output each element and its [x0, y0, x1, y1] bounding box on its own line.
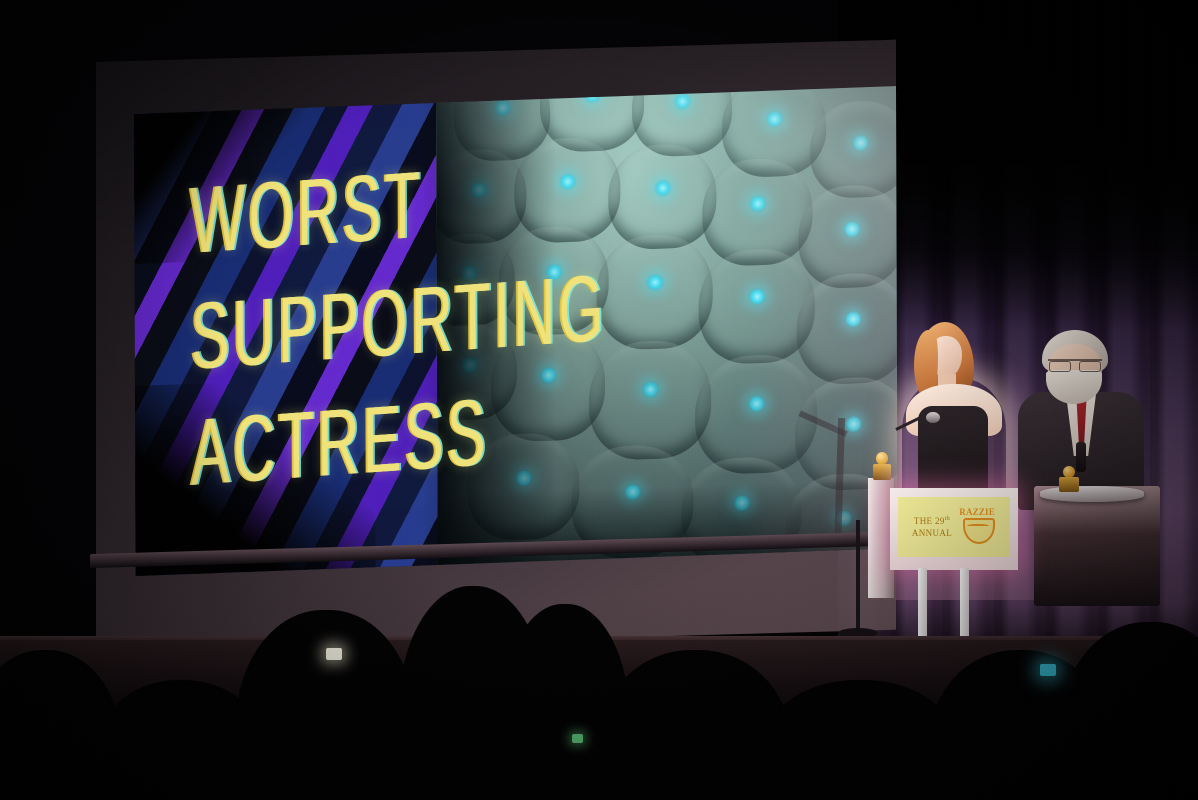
audience-phone-screen-light	[326, 648, 342, 660]
podium-sign: THE 29th ANNUAL RAZZIE	[898, 497, 1010, 557]
trophy-base	[1059, 477, 1079, 492]
audience-device-light-green	[572, 734, 583, 743]
projected-slide: WORST SUPPORTING ACTRESS	[134, 86, 898, 576]
podium-sign-line2: ANNUAL	[912, 527, 952, 539]
podium-sign-ordinal: th	[945, 516, 950, 522]
mic-capsule	[926, 412, 940, 423]
razzie-logo-berry-icon	[963, 518, 995, 544]
presenter-man	[1018, 330, 1144, 510]
podium-microphone	[896, 414, 940, 444]
serving-tray	[1040, 486, 1144, 502]
razzie-logo-word: RAZZIE	[958, 507, 996, 517]
slide-title-line-2: SUPPORTING	[191, 263, 608, 383]
trophy-base	[873, 464, 891, 480]
podium-sign-text: THE 29th ANNUAL	[912, 515, 952, 539]
eyeglasses-icon	[1048, 359, 1102, 370]
slide-title-line-1: WORST	[190, 147, 607, 267]
podium-sign-line1: THE 29	[914, 516, 945, 526]
audience-foreground	[0, 556, 1198, 800]
audience-phone-screen-light-cyan	[1040, 664, 1056, 676]
slide-title-line-3: ACTRESS	[191, 379, 608, 499]
audience-silhouette	[236, 610, 416, 800]
stage-scene: WORST SUPPORTING ACTRESS	[0, 0, 1198, 800]
slide-title: WORST SUPPORTING ACTRESS	[190, 151, 863, 498]
razzie-trophy-on-pedestal	[872, 452, 892, 480]
razzie-trophy-on-tray	[1059, 466, 1079, 492]
audience-silhouette	[1060, 622, 1198, 800]
razzie-logo: RAZZIE	[958, 507, 996, 547]
